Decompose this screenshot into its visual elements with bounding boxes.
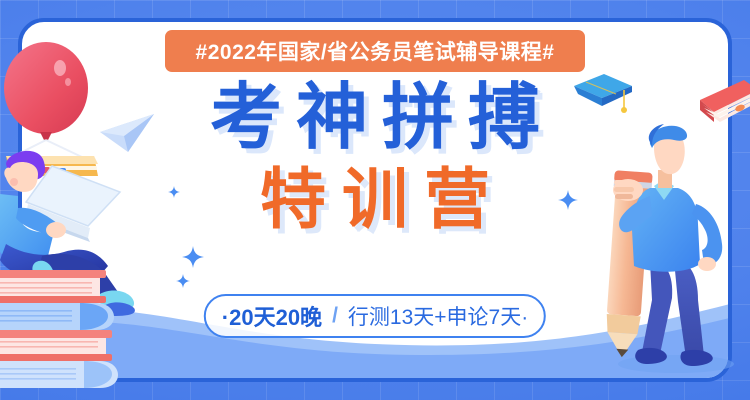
book-stack-illustration xyxy=(0,270,118,388)
sparkle-star-icon xyxy=(168,186,180,198)
sparkle-star-icon xyxy=(176,274,190,288)
graduation-cap-icon xyxy=(572,72,634,120)
promo-banner: #2022年国家/省公务员笔试辅导课程# 考神拼搏 特训营 ·20天20晚 / … xyxy=(0,0,750,400)
ribbon-banner: #2022年国家/省公务员笔试辅导课程# xyxy=(165,30,585,72)
headline-line-2: 特训营 xyxy=(0,166,750,232)
ribbon-text: #2022年国家/省公务员笔试辅导课程# xyxy=(196,36,555,66)
course-duration-pill: ·20天20晚 / 行测13天+申论7天· xyxy=(204,294,546,338)
sparkle-star-icon xyxy=(558,190,578,210)
pill-lead-text: ·20天20晚 xyxy=(222,300,322,332)
headline-line-1: 考神拼搏 xyxy=(0,82,750,154)
sparkle-star-icon xyxy=(182,246,204,268)
headline-block: 考神拼搏 特训营 xyxy=(0,82,750,232)
pill-separator: / xyxy=(326,304,344,328)
pill-detail-text: 行测13天+申论7天· xyxy=(348,301,528,331)
